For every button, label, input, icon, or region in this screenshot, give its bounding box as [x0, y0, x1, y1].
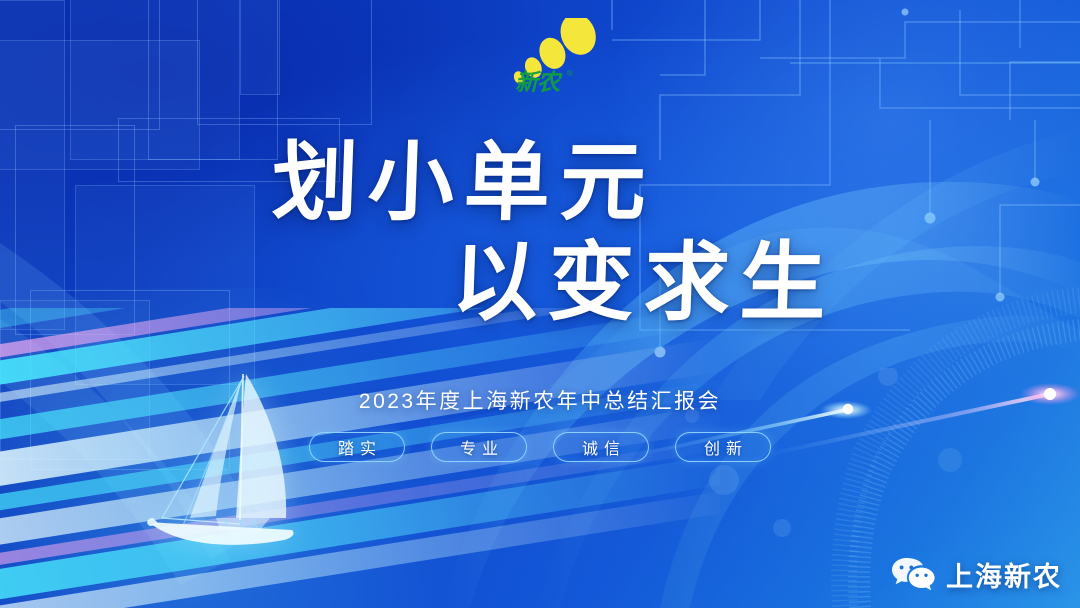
- geo-rect: [0, 0, 65, 330]
- tag-tashi[interactable]: 踏实: [309, 432, 405, 462]
- tag-chuangxin[interactable]: 创新: [675, 432, 771, 462]
- wechat-account-name: 上海新农: [946, 555, 1062, 594]
- svg-text:新农: 新农: [515, 70, 563, 95]
- logo-wordmark: 新农 ®: [515, 69, 573, 95]
- poster-canvas: 新农 ® 划小单元 以变求生 2023年度上海新农年中总结汇报会 踏实 专业 诚…: [0, 0, 1080, 608]
- headline-line-1: 划小单元: [270, 140, 1080, 228]
- svg-text:®: ®: [567, 69, 573, 78]
- brand-logo: 新农 ®: [495, 18, 605, 98]
- subtitle: 2023年度上海新农年中总结汇报会: [0, 385, 1080, 415]
- tag-zhuanye[interactable]: 专业: [431, 432, 527, 462]
- value-tag-row: 踏实 专业 诚信 创新: [0, 432, 1080, 462]
- wechat-watermark: 上海新农: [891, 555, 1062, 594]
- wechat-icon: [891, 556, 937, 594]
- geo-rect: [197, 0, 372, 125]
- headline-line-2: 以变求生: [450, 240, 1080, 328]
- geo-rect: [118, 118, 340, 182]
- geo-rect: [240, 0, 280, 95]
- glow-top-right: [580, 0, 1080, 400]
- tag-chengxin[interactable]: 诚信: [553, 432, 649, 462]
